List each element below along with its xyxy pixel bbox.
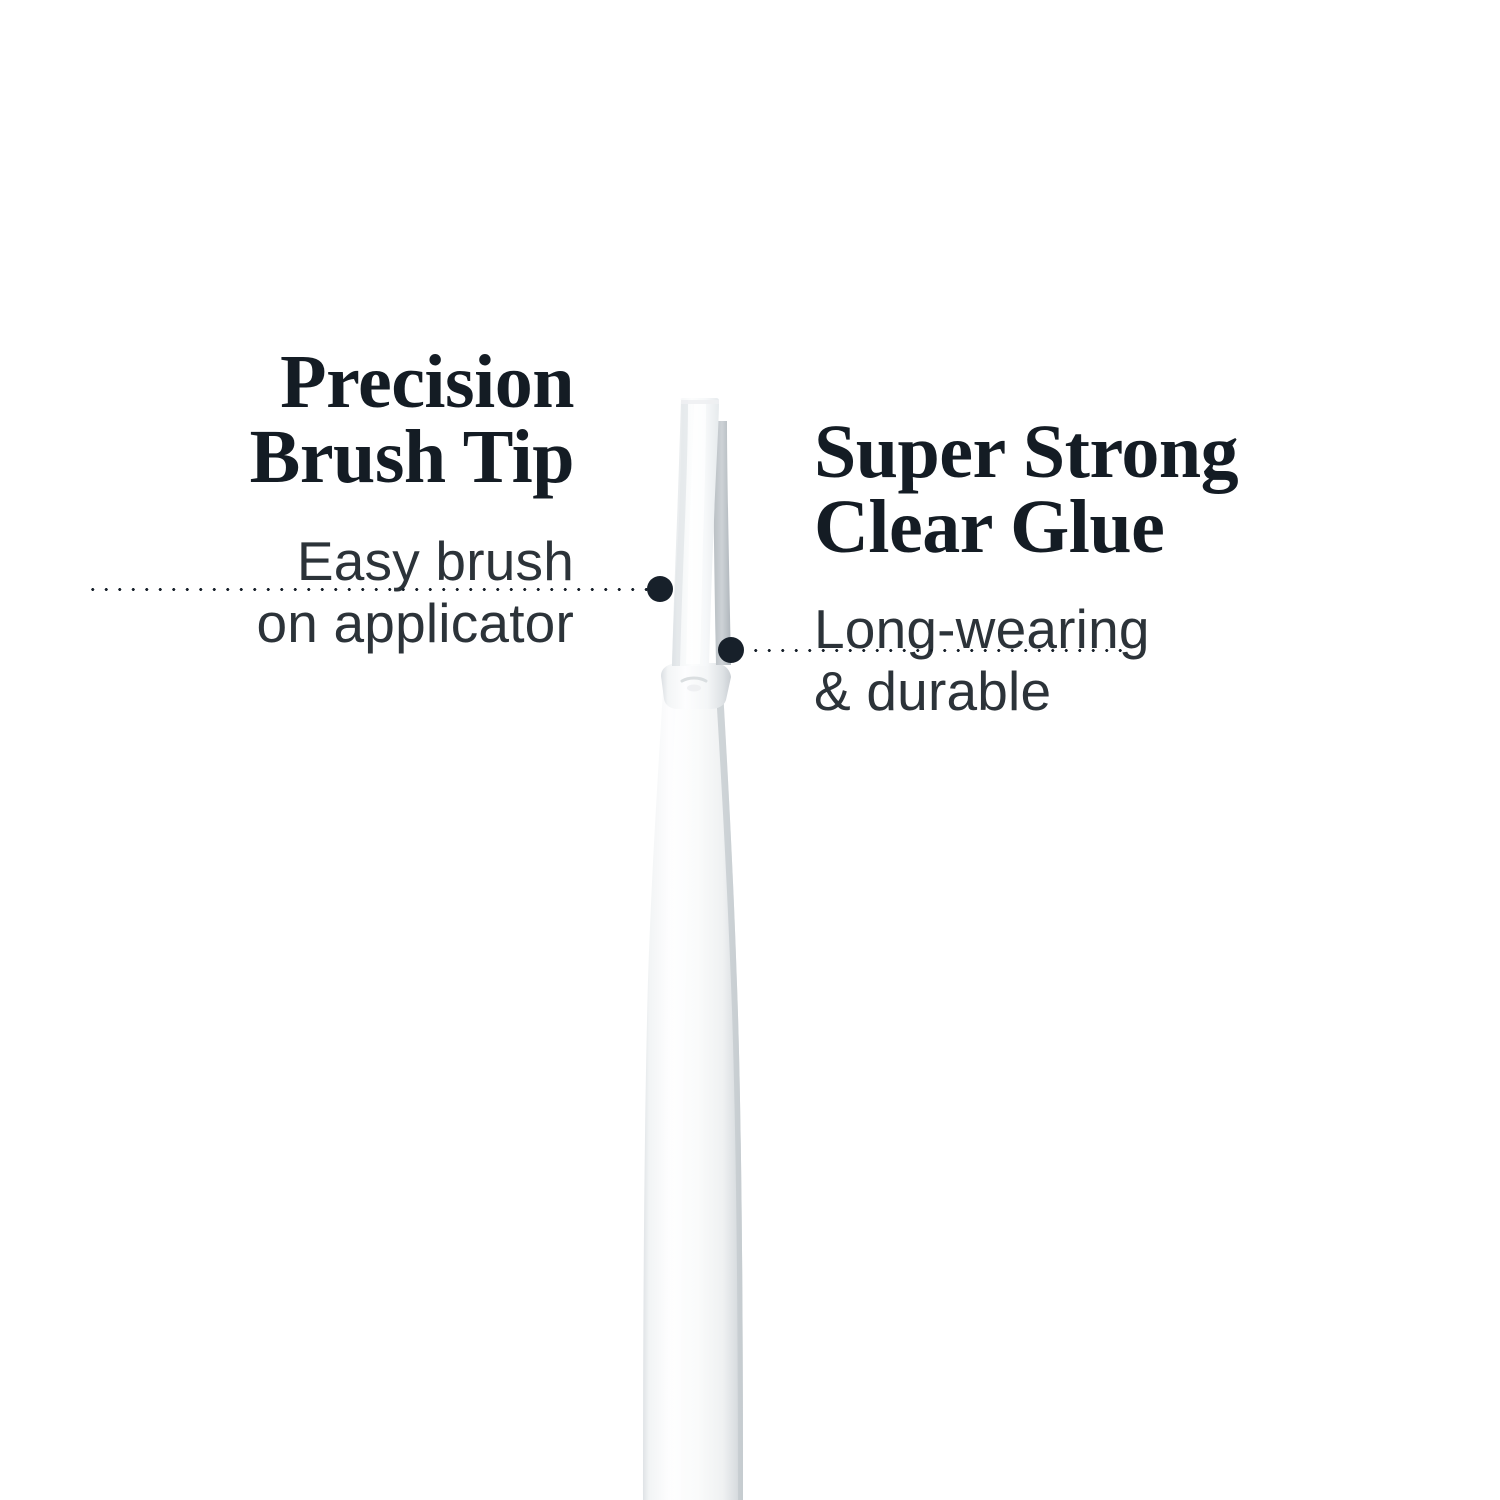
leader-dot-icon [718,637,744,663]
product-image-brush-applicator [0,0,1500,1500]
dotted-leader-line-icon [86,586,648,593]
dotted-leader-line-icon [749,647,1127,654]
callout-subtext: Easy brush on applicator [86,531,574,654]
product-part-collar-seam [682,678,706,681]
callout-subtext: Long-wearing & durable [814,599,1434,722]
product-part-brush-tip-highlight [686,404,706,664]
product-part-shaft-right-facet [716,690,743,1500]
product-part-collar-dimple [687,685,701,692]
product-part-tapered-shaft [643,690,743,1500]
product-part-brush-tip-left-shade [672,400,688,666]
product-part-collar-shoulder [661,663,731,709]
product-part-brush-tip-rim [681,400,719,404]
callout-precision-brush-tip: Precision Brush Tip Easy brush on applic… [86,345,574,655]
product-part-shaft-highlight [659,700,697,1500]
product-part-brush-far-edge [713,421,731,665]
callout-super-strong-clear-glue: Super Strong Clear Glue Long-wearing & d… [814,415,1434,723]
product-part-brush-tip [672,398,719,666]
infographic-canvas: Precision Brush Tip Easy brush on applic… [0,0,1500,1500]
leader-dot-icon [647,576,673,602]
callout-heading: Super Strong Clear Glue [814,415,1434,565]
callout-heading: Precision Brush Tip [86,345,574,495]
